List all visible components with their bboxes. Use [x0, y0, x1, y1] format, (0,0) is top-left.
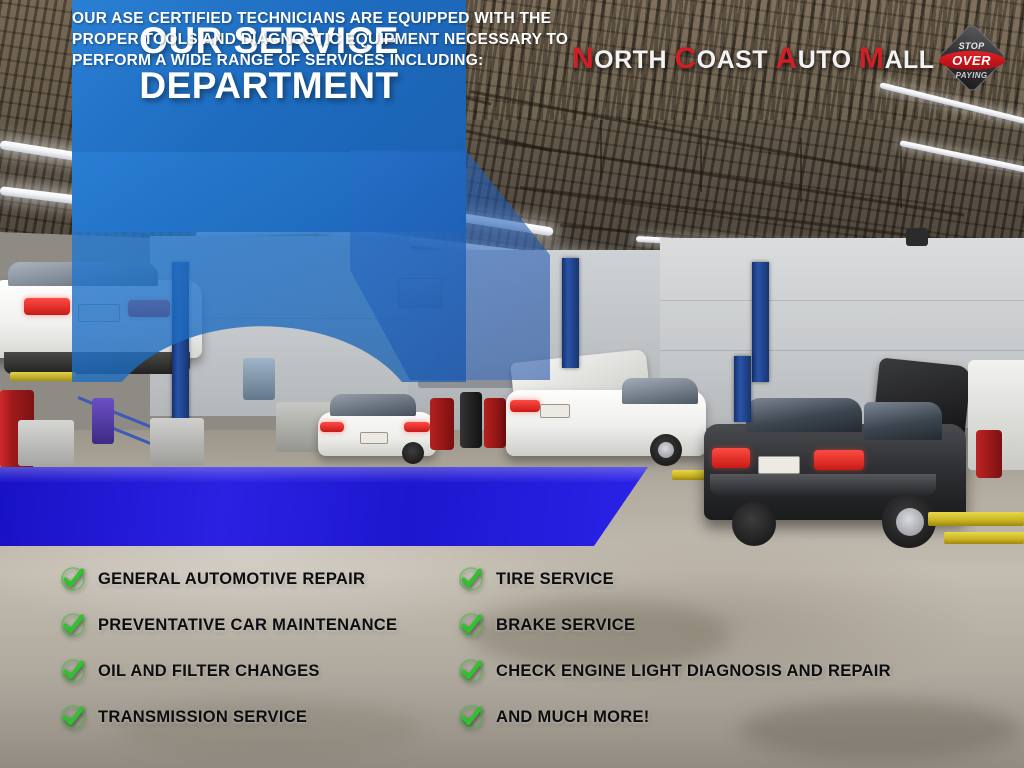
license-plate [758, 456, 800, 474]
lift-ramp [928, 512, 1024, 526]
oil-drum [0, 390, 14, 468]
service-item: OIL AND FILTER CHANGES [60, 648, 470, 694]
subhead-line-2: PROPER TOOLS AND DIAGNOSTIC EQUIPMENT NE… [72, 29, 612, 50]
service-item: AND MUCH MORE! [458, 694, 998, 740]
lift-post [562, 258, 579, 368]
tail-light [712, 448, 750, 468]
subhead-text: OUR ASE CERTIFIED TECHNICIANS ARE EQUIPP… [72, 8, 612, 71]
wall-seam [660, 350, 1024, 351]
service-item: BRAKE SERVICE [458, 602, 998, 648]
rear-window [746, 398, 862, 432]
tail-light [814, 450, 864, 470]
lift-post [734, 356, 751, 422]
service-label: CHECK ENGINE LIGHT DIAGNOSIS AND REPAIR [496, 662, 891, 681]
subhead-banner [0, 467, 660, 546]
roof-truss-vertical [800, 138, 802, 202]
roof-truss-vertical [600, 120, 602, 180]
oil-drum [460, 392, 482, 448]
service-item: PREVENTATIVE CAR MAINTENANCE [60, 602, 470, 648]
service-label: AND MUCH MORE! [496, 708, 650, 727]
rear-window [8, 262, 158, 286]
check-icon [60, 658, 86, 684]
roof-truss-vertical [900, 146, 902, 208]
service-item: TIRE SERVICE [458, 556, 998, 602]
service-item: TRANSMISSION SERVICE [60, 694, 470, 740]
service-label: OIL AND FILTER CHANGES [98, 662, 320, 681]
wheel [402, 442, 424, 464]
check-icon [60, 612, 86, 638]
logo-cap-n: N [572, 42, 594, 75]
brand-logo[interactable]: NORTH COAST AUTO MALL STOP OVER PAYING [572, 31, 1005, 87]
side-window [622, 378, 698, 404]
wheel [732, 502, 776, 546]
logo-rest-all: ALL [884, 46, 934, 74]
badge-top-text: STOP [939, 41, 1005, 51]
service-label: PREVENTATIVE CAR MAINTENANCE [98, 616, 397, 635]
service-label: TRANSMISSION SERVICE [98, 708, 307, 727]
tool-cabinet [18, 420, 74, 466]
tail-light [320, 422, 344, 432]
lift-arm-yellow [10, 372, 76, 381]
check-icon [60, 566, 86, 592]
service-list-left: GENERAL AUTOMOTIVE REPAIR PREVENTATIVE C… [60, 556, 470, 740]
badge-bottom-text: PAYING [939, 71, 1005, 80]
side-window [864, 402, 942, 440]
tail-light [510, 400, 540, 412]
license-plate [540, 404, 570, 418]
service-item: CHECK ENGINE LIGHT DIAGNOSIS AND REPAIR [458, 648, 998, 694]
service-item: GENERAL AUTOMOTIVE REPAIR [60, 556, 470, 602]
wall-speaker [906, 228, 928, 246]
service-label: TIRE SERVICE [496, 570, 614, 589]
service-label: BRAKE SERVICE [496, 616, 635, 635]
logo-rest-uto: UTO [798, 46, 852, 74]
brand-logo-text: NORTH COAST AUTO MALL [572, 42, 935, 76]
check-icon [458, 612, 484, 638]
rear-window [330, 394, 416, 416]
subhead-line-1: OUR ASE CERTIFIED TECHNICIANS ARE EQUIPP… [72, 8, 612, 29]
logo-rest-orth: ORTH [594, 46, 667, 74]
wheel-rim [658, 442, 674, 458]
stop-over-paying-badge: STOP OVER PAYING [939, 31, 1005, 87]
license-plate [360, 432, 388, 444]
banner-gloss [0, 467, 660, 483]
subhead-line-3: PERFORM A WIDE RANGE OF SERVICES INCLUDI… [72, 50, 612, 71]
shelving-unit [418, 380, 514, 388]
oil-drum [484, 398, 506, 448]
oil-drum [430, 398, 454, 450]
logo-cap-m: M [859, 42, 885, 75]
tail-light [404, 422, 430, 432]
service-label: GENERAL AUTOMOTIVE REPAIR [98, 570, 365, 589]
service-department-banner: OUR SERVICE DEPARTMENT NORTH COAST AUTO … [0, 0, 1024, 768]
service-list-right: TIRE SERVICE BRAKE SERVICE CHECK ENGINE … [458, 556, 998, 740]
check-icon [60, 704, 86, 730]
license-plate [78, 304, 120, 322]
vehicle-white-sedan-center [318, 390, 440, 470]
roof-truss-vertical [700, 130, 702, 192]
wheel-rim [896, 508, 924, 536]
logo-cap-c: C [674, 42, 696, 75]
rear-bumper [710, 474, 936, 496]
car-underbody [4, 352, 190, 374]
tail-light [128, 300, 170, 317]
check-icon [458, 704, 484, 730]
badge-middle-text: OVER [939, 53, 1005, 68]
check-icon [458, 658, 484, 684]
lift-ramp [944, 532, 1024, 544]
oil-drum [976, 430, 1002, 478]
wall-seam [660, 300, 1024, 301]
tool-cabinet [150, 418, 204, 466]
tail-light [24, 298, 70, 315]
check-icon [458, 566, 484, 592]
logo-rest-oast: OAST [697, 46, 768, 74]
equipment-cart [92, 398, 114, 444]
wall-cabinet [243, 358, 275, 400]
logo-cap-a: A [776, 42, 798, 75]
